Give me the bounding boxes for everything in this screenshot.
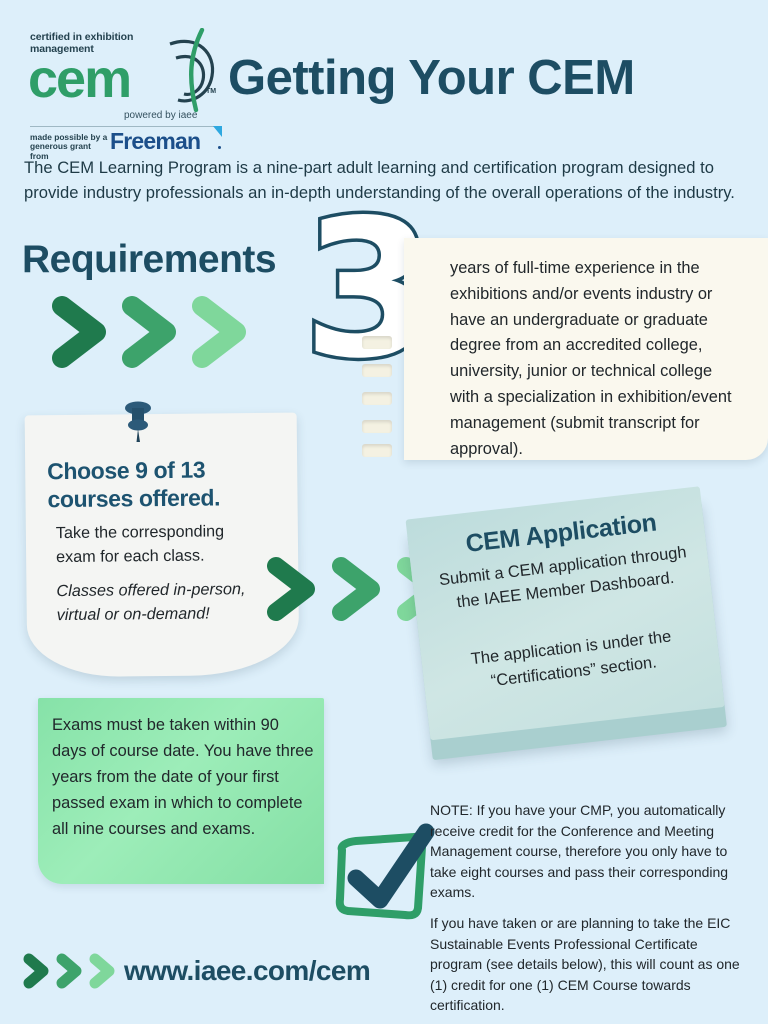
- courses-note-body: Take the corresponding exam for each cla…: [56, 519, 268, 569]
- freeman-mark-icon: [213, 126, 222, 137]
- logo-trademark: TM: [206, 88, 216, 95]
- checkbox-checked-icon: [326, 816, 438, 928]
- chevron-right-icon: [202, 306, 236, 358]
- chevron-right-icon: [62, 959, 76, 983]
- footnotes-column: NOTE: If you have your CMP, you automati…: [430, 800, 748, 1024]
- chevron-right-icon: [95, 959, 109, 983]
- cem-swoosh-icon: [140, 28, 226, 114]
- chevron-group-requirements: [52, 296, 267, 368]
- courses-note-heading: Choose 9 of 13 courses offered.: [47, 455, 278, 513]
- infographic-poster: certified in exhibition management cem T…: [0, 0, 768, 1024]
- footer-url[interactable]: www.iaee.com/cem: [124, 952, 370, 990]
- logo-divider: [30, 126, 220, 127]
- application-note-paragraph-2: The application is under the “Certificat…: [435, 621, 711, 699]
- chevron-right-icon: [29, 959, 43, 983]
- footnote-2: If you have taken or are planning to tak…: [430, 913, 748, 1016]
- freeman-dot-icon: [218, 146, 221, 149]
- chevron-right-icon: [132, 306, 166, 358]
- courses-note-italic: Classes offered in-person, virtual or on…: [56, 577, 276, 627]
- chevron-group-footer: [22, 952, 132, 990]
- pushpin-icon: [120, 400, 156, 444]
- chevron-right-icon: [62, 306, 96, 358]
- exams-note-text: Exams must be taken within 90 days of co…: [52, 712, 314, 842]
- torn-paper-edge: [356, 330, 404, 458]
- sponsor-wordmark: Freeman: [110, 130, 200, 153]
- chevron-right-icon: [276, 566, 306, 612]
- chevron-right-icon: [341, 566, 371, 612]
- courses-note-card: Choose 9 of 13 courses offered. Take the…: [25, 413, 300, 678]
- page-title: Getting Your CEM: [228, 50, 635, 106]
- cem-application-note: CEM Application Submit a CEM application…: [405, 486, 730, 756]
- logo-powered-by: powered by iaee: [124, 110, 197, 121]
- experience-requirement-text: years of full-time experience in the exh…: [450, 256, 740, 462]
- logo-wordmark: cem: [28, 52, 130, 106]
- footnote-1: NOTE: If you have your CMP, you automati…: [430, 800, 748, 903]
- experience-requirement-card: years of full-time experience in the exh…: [404, 238, 768, 460]
- sticky-pad-top-sheet: CEM Application Submit a CEM application…: [405, 486, 724, 740]
- requirements-heading: Requirements: [22, 238, 276, 282]
- exams-note-card: Exams must be taken within 90 days of co…: [38, 698, 324, 884]
- cem-logo: certified in exhibition management cem T…: [28, 22, 224, 140]
